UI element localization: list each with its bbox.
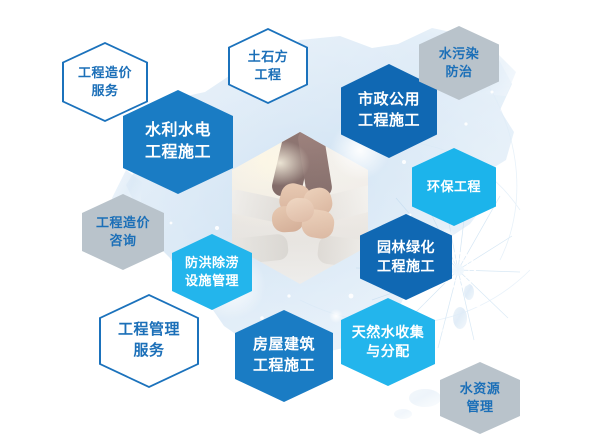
hexagon-label: 土石方 工程	[248, 48, 289, 84]
hexagon-yuanlin-lvhua-gongcheng-shigong[interactable]: 园林绿化 工程施工	[360, 214, 452, 300]
hexagon-gongcheng-zaojia-zixun[interactable]: 工程造价 咨询	[82, 194, 164, 270]
hexagon-fangwu-jianzhu-gongcheng-shigong[interactable]: 房屋建筑 工程施工	[235, 310, 333, 402]
infographic-canvas: 工程造价 服务土石方 工程水利水电 工程施工市政公用 工程施工水污染 防治环保工…	[0, 0, 600, 439]
hexagon-label: 水利水电 工程施工	[145, 120, 211, 164]
hexagon-shuiziyuan-guanli[interactable]: 水资源 管理	[440, 362, 520, 434]
hexagon-label: 环保工程	[427, 178, 481, 196]
hexagon-label: 工程造价 咨询	[96, 214, 150, 250]
hexagon-label: 工程造价 服务	[78, 64, 132, 100]
hexagon-label: 水污染 防治	[439, 45, 480, 81]
hexagon-label: 工程管理 服务	[118, 320, 180, 361]
hexagon-label: 市政公用 工程施工	[358, 90, 420, 131]
hexagon-label: 园林绿化 工程施工	[377, 238, 435, 277]
hexagon-label: 防洪除涝 设施管理	[185, 254, 239, 290]
hexagon-tianranshui-shouji-yu-fenpei[interactable]: 天然水收集 与分配	[341, 298, 435, 386]
hexagon-label: 水资源 管理	[460, 380, 501, 416]
hexagon-label: 房屋建筑 工程施工	[253, 335, 315, 376]
hexagon-shuiwuran-fangzhi[interactable]: 水污染 防治	[419, 26, 499, 100]
hexagon-gongcheng-guanli-fuwu[interactable]: 工程管理 服务	[99, 294, 199, 388]
hexagon-tushifang-gongcheng[interactable]: 土石方 工程	[228, 28, 308, 104]
hexagon-shuili-shuidian-gongcheng-shigong[interactable]: 水利水电 工程施工	[123, 90, 233, 194]
hexagon-label: 天然水收集 与分配	[352, 323, 425, 362]
